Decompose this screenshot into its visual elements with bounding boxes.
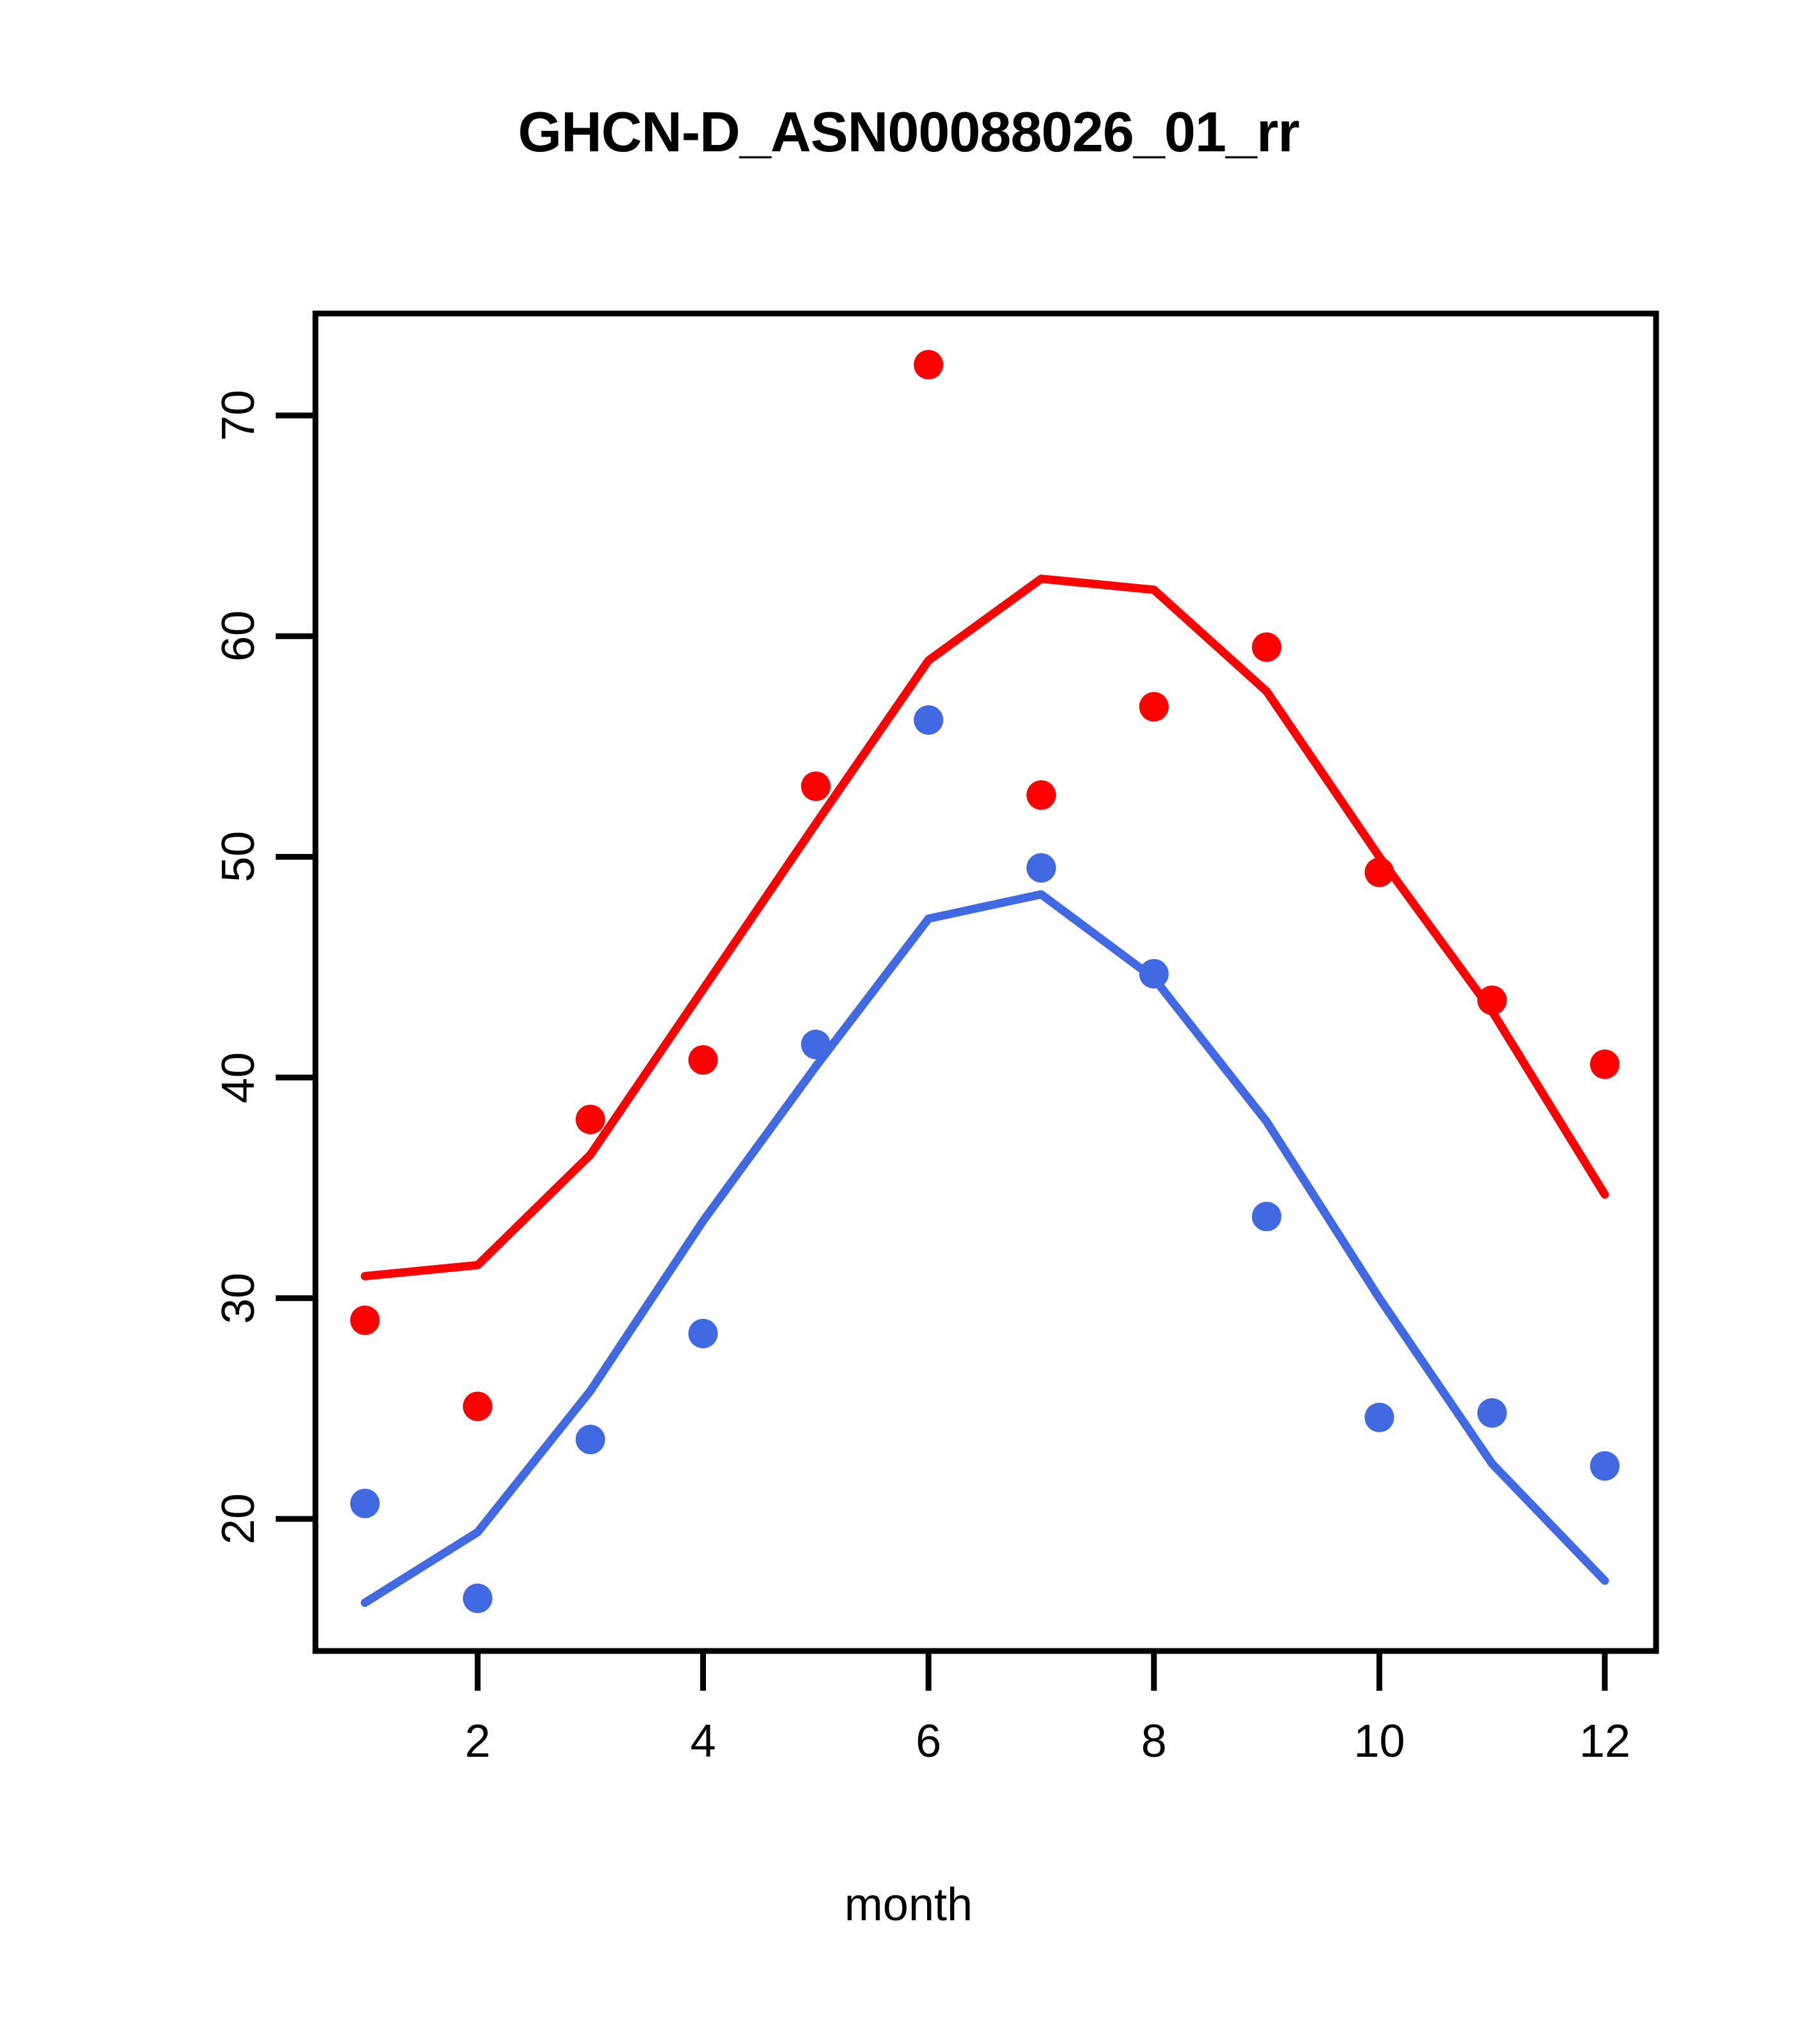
data-point bbox=[1477, 985, 1507, 1015]
x-tick-label: 4 bbox=[691, 1715, 716, 1768]
data-point bbox=[1026, 853, 1056, 883]
data-point bbox=[350, 1305, 380, 1335]
data-point bbox=[1252, 632, 1282, 662]
y-tick-label: 70 bbox=[212, 390, 265, 441]
data-point bbox=[463, 1584, 492, 1613]
data-point bbox=[576, 1425, 605, 1454]
data-point bbox=[1364, 858, 1394, 887]
plot-frame bbox=[315, 314, 1656, 1651]
data-point bbox=[1026, 780, 1056, 810]
x-tick-label: 6 bbox=[916, 1715, 941, 1768]
data-point bbox=[801, 1030, 830, 1059]
data-point bbox=[463, 1392, 492, 1421]
series-lines bbox=[365, 579, 1605, 1603]
x-axis-title: month bbox=[0, 1879, 1817, 1931]
data-point bbox=[1477, 1398, 1507, 1428]
red-line bbox=[365, 579, 1605, 1277]
blue-points bbox=[350, 705, 1620, 1613]
red-points bbox=[350, 350, 1620, 1421]
data-point bbox=[1252, 1202, 1282, 1231]
x-tick-label: 8 bbox=[1141, 1715, 1167, 1768]
series-points bbox=[350, 350, 1620, 1613]
x-tick-label: 10 bbox=[1353, 1715, 1405, 1768]
data-point bbox=[1139, 692, 1169, 721]
plot-border bbox=[315, 314, 1656, 1651]
data-point bbox=[1590, 1050, 1620, 1079]
x-tick-label: 12 bbox=[1579, 1715, 1630, 1768]
y-tick-label: 60 bbox=[212, 610, 265, 662]
y-tick-label: 20 bbox=[212, 1493, 265, 1545]
data-point bbox=[576, 1105, 605, 1134]
data-point bbox=[1590, 1451, 1620, 1480]
data-point bbox=[801, 771, 830, 801]
data-point bbox=[689, 1045, 718, 1075]
blue-line bbox=[365, 894, 1605, 1603]
data-point bbox=[689, 1319, 718, 1348]
data-point bbox=[1364, 1403, 1394, 1432]
x-axis-ticks bbox=[478, 1651, 1605, 1691]
y-axis-ticks bbox=[276, 415, 315, 1519]
data-point bbox=[350, 1489, 380, 1518]
y-tick-label: 50 bbox=[212, 831, 265, 882]
y-tick-label: 40 bbox=[212, 1052, 265, 1103]
data-point bbox=[914, 705, 943, 735]
chart-page: GHCN-D_ASN00088026_01_rr 24681012 203040… bbox=[0, 0, 1817, 2044]
y-tick-label: 30 bbox=[212, 1273, 265, 1324]
plot-canvas bbox=[0, 0, 1817, 2044]
data-point bbox=[1139, 959, 1169, 989]
x-tick-label: 2 bbox=[465, 1715, 490, 1768]
data-point bbox=[914, 350, 943, 380]
